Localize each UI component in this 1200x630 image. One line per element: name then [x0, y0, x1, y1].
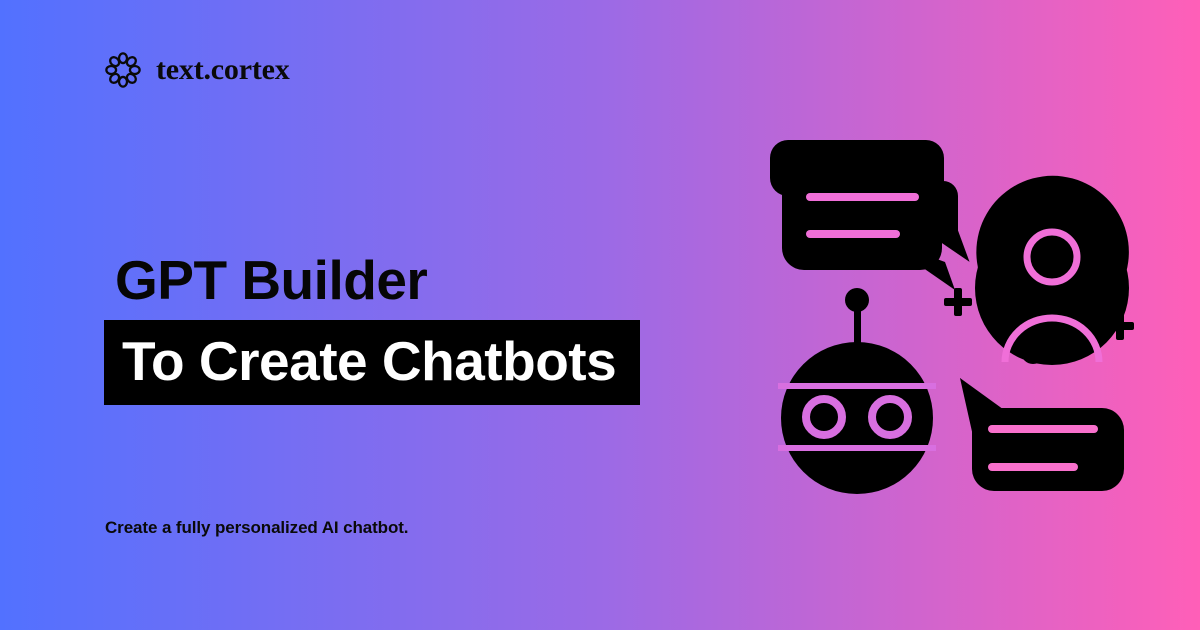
- brand-name: text.cortex: [156, 55, 290, 85]
- page-title-line-1: GPT Builder: [104, 252, 744, 308]
- title-highlight-block: To Create Chatbots: [104, 320, 640, 405]
- user-avatar-icon: [929, 167, 1160, 413]
- brand-logo[interactable]: text.cortex: [104, 48, 290, 92]
- cortex-petal-ring-icon: [104, 51, 142, 89]
- headline-group: GPT Builder To Create Chatbots: [104, 252, 744, 405]
- speech-bubble-top-icon: [770, 140, 970, 290]
- page-title-line-2: To Create Chatbots: [122, 334, 616, 389]
- plus-mark-left: [944, 288, 972, 316]
- chatbot-illustration: [760, 120, 1160, 520]
- dot-mark: [1021, 340, 1045, 364]
- hero-subtitle: Create a fully personalized AI chatbot.: [105, 518, 408, 538]
- robot-head-icon: [778, 288, 936, 494]
- hero-banner: text.cortex GPT Builder To Create Chatbo…: [0, 0, 1200, 630]
- speech-bubble-bottom-icon: [960, 378, 1124, 491]
